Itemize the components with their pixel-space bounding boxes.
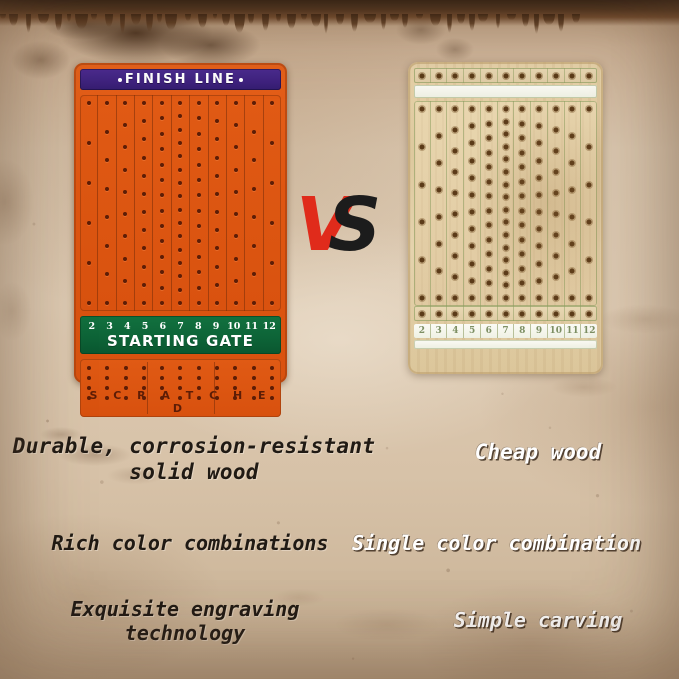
peg-hole [171,386,189,390]
peg-hole [553,128,558,133]
peg-hole [123,234,127,238]
peg-hole [234,257,238,261]
peg-hole [263,376,281,380]
peg-hole [548,306,565,321]
peg-hole [570,296,575,301]
peg-hole [537,210,542,215]
peg-hole [160,270,164,274]
track-lane [98,95,116,311]
wood-number: 3 [431,324,448,338]
gate-number: 12 [260,321,278,332]
finish-line-label: FINISH LINE [125,72,236,87]
left-feature-2: Rich color combinations [22,531,358,555]
peg-hole [160,101,164,105]
peg-hole [252,301,256,305]
peg-hole [503,258,508,263]
peg-hole [160,255,164,259]
peg-hole [481,68,498,83]
rust-drip [262,14,269,31]
track-lane [565,101,582,306]
peg-hole [503,170,508,175]
gate-number: 7 [172,321,190,332]
peg-hole [270,221,274,225]
track-lane [581,101,597,306]
peg-hole [244,366,262,370]
peg-hole [98,386,116,390]
peg-hole [160,163,164,167]
peg-hole [197,224,201,228]
peg-hole [520,107,525,112]
wood-number: 12 [581,324,597,338]
peg-hole [215,174,219,178]
peg-hole [453,170,458,175]
peg-hole [178,114,182,118]
rust-drip [507,14,516,20]
peg-hole [135,366,153,370]
peg-hole [117,376,135,380]
peg-hole [98,366,116,370]
peg-hole [436,296,441,301]
starting-gate-banner: 23456789101112 STARTING GATE [80,316,281,354]
wood-number-row: 23456789101112 [414,324,597,338]
peg-hole [178,221,182,225]
peg-hole [520,296,525,301]
peg-hole [226,376,244,380]
peg-hole [160,286,164,290]
gate-number: 2 [83,321,101,332]
rust-drip [390,14,399,21]
peg-hole [537,124,542,129]
peg-hole [553,296,558,301]
peg-hole [252,215,256,219]
rust-drip [543,14,555,25]
peg-hole [160,193,164,197]
peg-hole [503,144,508,149]
rust-drip [469,14,475,31]
peg-hole [117,366,135,370]
right-feature-2: Single color combination [352,531,679,555]
peg-hole [570,107,575,112]
peg-hole [117,396,135,400]
rust-drip [185,14,191,21]
peg-hole [537,278,542,283]
peg-hole [470,158,475,163]
peg-hole [447,306,464,321]
scratched-hole-row [80,386,281,390]
wood-number: 9 [531,324,548,338]
peg-hole [142,228,146,232]
peg-hole [135,396,153,400]
peg-hole [160,301,164,305]
peg-hole [105,187,109,191]
peg-hole [135,386,153,390]
rust-drip [457,14,465,24]
wood-number: 6 [481,324,498,338]
peg-hole [197,270,201,274]
wood-number: 11 [565,324,582,338]
peg-hole [520,179,525,184]
peg-hole [464,306,481,321]
scratched-hole-row [80,376,281,380]
peg-hole [453,275,458,280]
versus-logo: V S [296,188,396,268]
rust-drip [324,14,328,34]
peg-hole [197,101,201,105]
peg-hole [486,296,491,301]
peg-hole [244,396,262,400]
peg-hole [553,254,558,259]
rust-drip [9,14,18,26]
peg-hole [436,215,441,220]
peg-hole [587,144,592,149]
rust-drip [430,14,441,26]
peg-hole [252,101,256,105]
peg-hole [553,233,558,238]
peg-hole [215,228,219,232]
peg-hole [98,376,116,380]
peg-hole [503,182,508,187]
peg-hole [160,178,164,182]
versus-s-letter: S [328,188,381,262]
starting-gate-title: STARTING GATE [83,333,278,349]
finish-line-banner: FINISH LINE [80,69,281,90]
peg-hole [178,181,182,185]
peg-hole [537,175,542,180]
peg-hole [486,136,491,141]
peg-hole [208,386,226,390]
peg-hole [503,296,508,301]
peg-hole [234,168,238,172]
peg-hole [160,116,164,120]
rust-drip [38,14,49,24]
peg-hole [123,279,127,283]
peg-hole [197,239,201,243]
peg-hole [270,301,274,305]
wood-number: 7 [498,324,515,338]
peg-hole [252,130,256,134]
peg-hole [531,306,548,321]
peg-hole [436,161,441,166]
peg-hole [537,107,542,112]
peg-hole [234,190,238,194]
peg-hole [244,376,262,380]
track-lane [431,101,448,306]
peg-hole [142,174,146,178]
peg-hole [453,212,458,217]
peg-hole [498,68,515,83]
peg-hole [431,68,448,83]
gate-number: 6 [154,321,172,332]
peg-hole [537,227,542,232]
peg-hole [197,193,201,197]
peg-hole [486,107,491,112]
peg-hole [453,191,458,196]
peg-hole [470,192,475,197]
track-lane [117,95,135,311]
peg-hole [80,376,98,380]
rust-drip [336,14,344,25]
peg-hole [123,123,127,127]
peg-hole [553,149,558,154]
wood-bottom-hole-row [414,306,597,321]
peg-hole [570,188,575,193]
peg-hole [520,194,525,199]
wood-top-hole-row [414,68,597,83]
peg-hole [153,376,171,380]
peg-hole [197,163,201,167]
peg-hole [453,128,458,133]
peg-hole [215,246,219,250]
peg-hole [470,227,475,232]
peg-hole [453,254,458,259]
rust-drip [558,14,564,32]
left-feature-3: Exquisite engraving technology [20,597,350,646]
rust-drip [26,14,31,33]
peg-hole [226,366,244,370]
comparison-graphic: FINISH LINE 23456789101112 STARTING GATE… [0,0,679,679]
peg-hole [503,119,508,124]
rust-drip [447,14,452,33]
rust-drip [287,14,296,29]
right-feature-3: Simple carving [398,608,678,632]
peg-hole [105,101,109,105]
peg-hole [105,130,109,134]
peg-hole [565,68,582,83]
peg-hole [171,376,189,380]
wood-bottom-bar [414,340,597,349]
track-lane [481,101,498,306]
peg-hole [553,191,558,196]
peg-hole [553,170,558,175]
peg-hole [470,261,475,266]
peg-hole [142,301,146,305]
orange-race-track-board: FINISH LINE 23456789101112 STARTING GATE… [74,63,287,383]
peg-hole [178,141,182,145]
peg-hole [520,121,525,126]
rust-drip [276,14,281,22]
peg-hole [80,396,98,400]
peg-hole [531,68,548,83]
peg-hole [520,150,525,155]
peg-hole [537,141,542,146]
peg-hole [470,296,475,301]
peg-hole [520,252,525,257]
peg-hole [178,194,182,198]
peg-hole [142,192,146,196]
rust-drip [146,14,153,32]
rust-drip [311,14,321,27]
peg-hole [414,306,431,321]
wood-number: 10 [548,324,565,338]
peg-hole [160,132,164,136]
peg-hole [553,107,558,112]
peg-hole [270,261,274,265]
peg-hole [481,306,498,321]
track-lane [135,95,153,311]
peg-hole [419,182,424,187]
peg-hole [503,132,508,137]
peg-hole [486,194,491,199]
peg-hole [215,137,219,141]
rust-drip [75,14,88,29]
peg-hole [520,237,525,242]
rust-drip [402,14,408,28]
rust-drip [248,14,254,24]
peg-hole [252,244,256,248]
peg-hole [486,165,491,170]
peg-hole [80,386,98,390]
peg-hole [537,192,542,197]
peg-hole [514,68,531,83]
track-lane [498,101,515,306]
peg-hole [190,366,208,370]
peg-hole [87,261,91,265]
peg-hole [142,210,146,214]
rust-drip [222,14,230,26]
peg-hole [160,147,164,151]
peg-hole [587,296,592,301]
peg-hole [470,141,475,146]
peg-hole [215,101,219,105]
peg-hole [537,296,542,301]
wood-race-track-board: 23456789101112 [408,62,603,374]
peg-hole [171,366,189,370]
peg-hole [178,208,182,212]
peg-hole [520,208,525,213]
peg-hole [178,101,182,105]
peg-hole [470,278,475,283]
rust-drip [0,14,6,19]
track-lane [548,101,565,306]
peg-hole [453,107,458,112]
peg-hole [234,279,238,283]
peg-hole [197,116,201,120]
rust-drip [416,14,423,19]
peg-hole [486,266,491,271]
rust-drip [105,14,113,27]
peg-hole [215,283,219,287]
peg-hole [553,275,558,280]
starting-gate-label: STARTING GATE [107,333,254,349]
peg-hole [226,396,244,400]
peg-hole [234,101,238,105]
peg-hole [234,234,238,238]
peg-hole [581,306,597,321]
wood-blank-banner [414,85,597,98]
peg-hole [153,396,171,400]
peg-hole [171,396,189,400]
peg-hole [537,244,542,249]
peg-hole [470,244,475,249]
peg-hole [565,306,582,321]
peg-hole [470,124,475,129]
peg-hole [226,386,244,390]
track-lane [209,95,227,311]
rust-drip [198,14,207,28]
peg-hole [178,274,182,278]
rust-drip [234,14,245,33]
rust-drip [131,14,141,25]
peg-hole [587,182,592,187]
peg-hole [570,215,575,220]
peg-hole [470,210,475,215]
peg-hole [190,386,208,390]
peg-hole [470,107,475,112]
peg-hole [215,265,219,269]
peg-hole [234,145,238,149]
peg-hole [270,181,274,185]
rust-drip [67,14,71,22]
peg-hole [537,261,542,266]
peg-hole [142,246,146,250]
peg-hole [87,101,91,105]
peg-hole [234,212,238,216]
peg-hole [215,301,219,305]
peg-hole [178,234,182,238]
scratched-area: S C R A T C H E D [80,359,281,417]
rust-drip [157,14,162,23]
peg-hole [105,244,109,248]
peg-hole [142,283,146,287]
peg-hole [520,165,525,170]
rust-drip [55,14,62,31]
peg-hole [503,207,508,212]
peg-hole [486,121,491,126]
bullet-dot-icon [239,78,243,82]
peg-hole [436,134,441,139]
peg-hole [453,149,458,154]
peg-hole [135,376,153,380]
peg-hole [514,306,531,321]
peg-hole [197,209,201,213]
peg-hole [436,188,441,193]
peg-hole [178,154,182,158]
peg-hole [197,147,201,151]
peg-hole [537,158,542,163]
rust-drip [213,14,217,19]
peg-hole [486,179,491,184]
peg-hole [548,68,565,83]
peg-hole [117,386,135,390]
peg-hole [414,68,431,83]
peg-hole [520,266,525,271]
wood-number: 8 [514,324,531,338]
peg-hole [587,220,592,225]
peg-hole [252,272,256,276]
peg-hole [503,233,508,238]
track-lane [414,101,431,306]
rust-drip [478,14,488,22]
peg-hole [123,145,127,149]
peg-hole [178,168,182,172]
peg-hole [263,366,281,370]
peg-hole [123,257,127,261]
starting-gate-numbers: 23456789101112 [83,321,278,332]
left-feature-1: Durable, corrosion-resistant solid wood [8,434,380,485]
track-lane [245,95,263,311]
peg-hole [419,258,424,263]
rust-drip [572,14,580,23]
wood-number: 5 [464,324,481,338]
peg-hole [123,190,127,194]
peg-hole [142,156,146,160]
scratched-divider [214,362,215,414]
peg-hole [581,68,597,83]
peg-hole [215,192,219,196]
peg-hole [503,245,508,250]
peg-hole [208,396,226,400]
peg-hole [436,242,441,247]
